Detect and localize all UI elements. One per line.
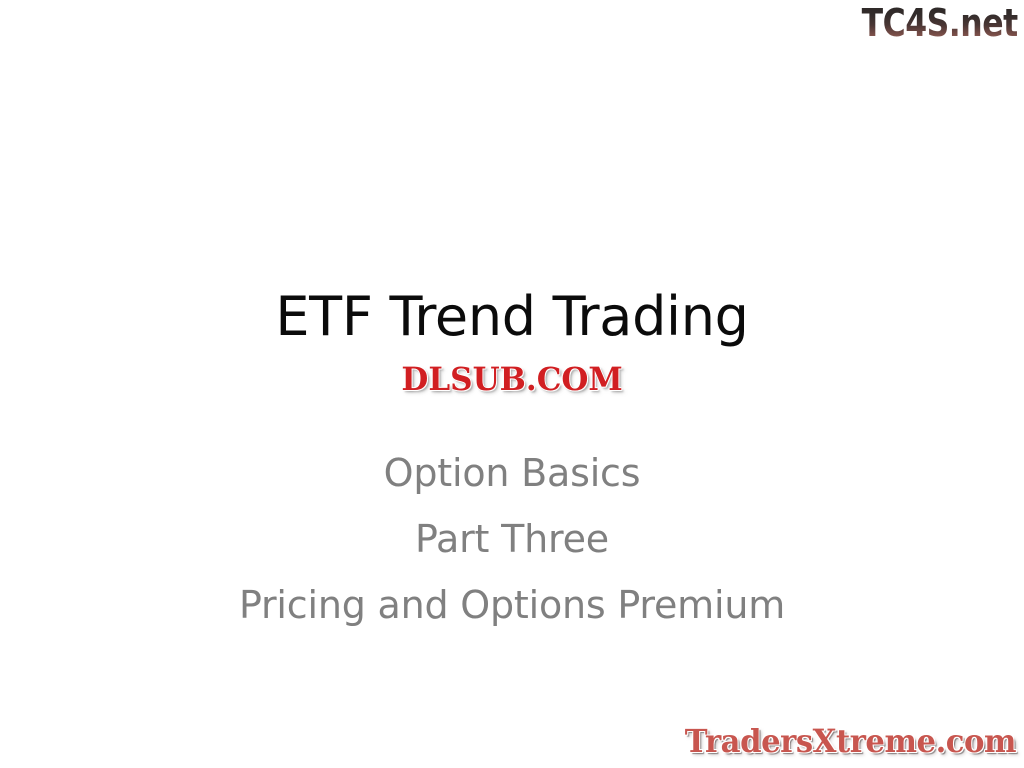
presentation-slide: TC4S.net ETF Trend Trading DLSUB.COM Opt… [0,0,1024,768]
dlsub-watermark-text: DLSUB.COM [401,360,622,398]
tradersxtreme-watermark-text: TradersXtreme.com [685,722,1016,760]
tradersxtreme-watermark: TradersXtreme.com [671,722,1016,760]
tc4s-logo-watermark: TC4S.net [862,2,1018,44]
subtitle-line-3: Pricing and Options Premium [0,572,1024,638]
subtitle-line-1: Option Basics [0,440,1024,506]
subtitle-block: Option Basics Part Three Pricing and Opt… [0,440,1024,638]
dlsub-watermark: DLSUB.COM [0,360,1024,398]
page-title: ETF Trend Trading [0,286,1024,348]
subtitle-line-2: Part Three [0,506,1024,572]
title-block: ETF Trend Trading [0,286,1024,348]
